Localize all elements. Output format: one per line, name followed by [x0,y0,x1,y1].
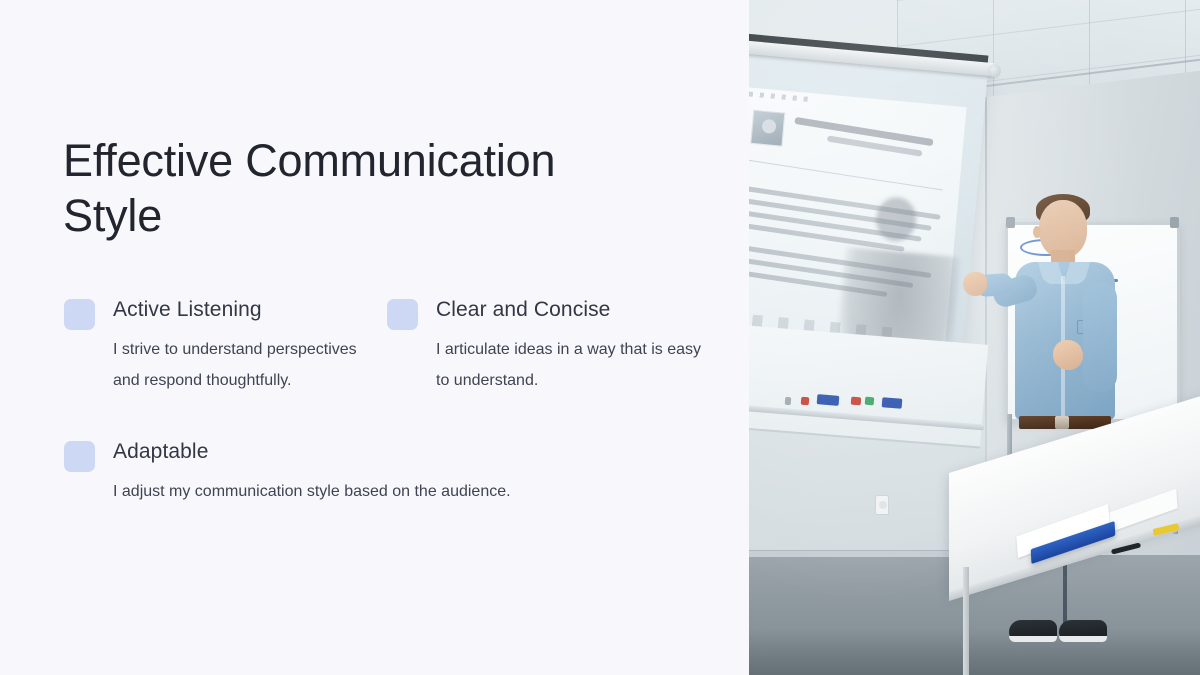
marker-icon [865,397,875,406]
list-item-title: Active Listening [113,296,386,324]
list-item-active-listening[interactable]: Active Listening I strive to understand … [63,296,386,396]
marker-icon [801,397,810,406]
shoe-sole [1009,636,1057,642]
photo-panel [749,0,1200,675]
marker-icon [851,397,862,406]
presenter-right-hand [1053,340,1083,370]
list-item-title: Clear and Concise [436,296,709,324]
floor-shadow [749,629,1200,675]
page-title: Effective Communication Style [63,134,663,244]
items-row-bottom: Adaptable I adjust my communication styl… [63,438,723,508]
marker-icon [817,394,840,406]
presenter-ear [1033,226,1041,238]
wall-socket-icon [875,495,889,515]
list-item-title: Adaptable [113,438,703,466]
projected-slide [749,87,967,357]
content-panel: Effective Communication Style Active Lis… [0,0,749,675]
bullet-square-icon [387,299,418,330]
presenter-left-hand [963,272,987,296]
presentation-photo [749,0,1200,675]
slide-root: Effective Communication Style Active Lis… [0,0,1200,675]
presenter-right-arm [1083,282,1117,392]
projected-toolbar [749,91,809,101]
projected-divider [749,159,943,190]
list-item-clear-and-concise[interactable]: Clear and Concise I articulate ideas in … [386,296,709,396]
projected-thumbnail-icon [750,110,785,147]
list-item-description: I adjust my communication style based on… [113,477,703,508]
presenter-shoe [1009,620,1057,642]
bullet-square-icon [64,299,95,330]
table-leg [963,567,969,675]
list-item-description: I strive to understand perspectives and … [113,335,386,396]
bullet-square-icon [64,441,95,472]
list-item-description: I articulate ideas in a way that is easy… [436,335,709,396]
items-grid: Active Listening I strive to understand … [63,296,723,508]
wall-whiteboard [749,325,988,449]
shoe-sole [1059,636,1107,642]
list-item-adaptable[interactable]: Adaptable I adjust my communication styl… [63,438,703,508]
marker-icon [882,397,903,409]
marker-icon [785,397,792,405]
items-row-top: Active Listening I strive to understand … [63,296,723,396]
presenter-shoe [1059,620,1107,642]
